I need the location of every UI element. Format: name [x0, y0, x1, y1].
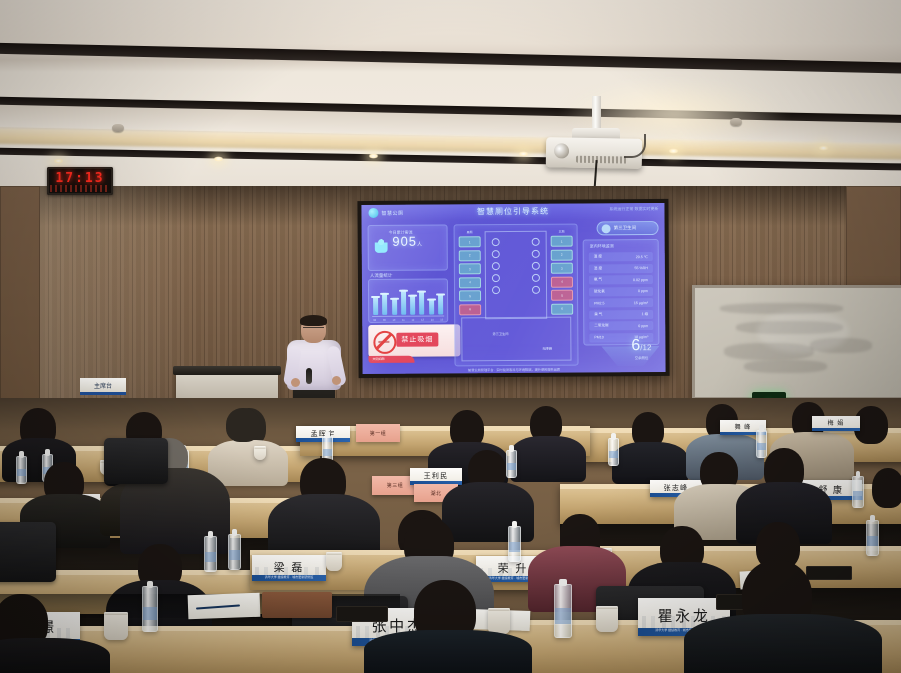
free-stall-counter: 6/12 空余厕位: [631, 338, 651, 360]
chart-bar: [438, 293, 443, 314]
environment-panel: 室内环境监测 温 度20.5 ℃湿 度55 %RH氨 气0.02 ppm硫化氢0…: [583, 239, 660, 346]
chart-tick: 14: [431, 319, 434, 322]
male-stall-column: 男厕 123456: [459, 230, 482, 317]
stall-indicator: 1: [459, 236, 481, 247]
chart-bar: [429, 298, 434, 315]
env-label: 湿 度: [594, 266, 602, 271]
env-value: 0 ppm: [638, 289, 648, 293]
chart-tick: 15: [440, 318, 443, 321]
notebook: [262, 592, 332, 618]
table-nameplate: 梅 娟: [812, 416, 860, 431]
chart-bar: [419, 291, 424, 315]
no-smoking-banner: 禁止吸烟 文明如厕: [368, 324, 460, 357]
female-stall-column: 女厕 123456: [551, 230, 574, 317]
chart-axis: [372, 315, 444, 317]
no-smoking-footer: 文明如厕: [368, 356, 414, 363]
counter-value: 6/12: [631, 338, 651, 354]
chair-back: [0, 522, 56, 582]
third-restroom-button[interactable]: 第三卫生间: [597, 221, 659, 235]
chart-bar: [401, 290, 406, 315]
nameplate-text: 王利民: [424, 473, 449, 480]
occupancy-number: 905: [392, 234, 417, 249]
chart-tick-labels: 0809101112131415: [373, 318, 443, 321]
env-reading-row: 湿 度55 %RH: [589, 264, 653, 273]
chart-bar: [392, 297, 397, 314]
env-reading-row: PM2.515 μg/m³: [589, 298, 653, 307]
env-label: 氨 气: [594, 277, 602, 282]
table-nameplate: 王利民: [410, 468, 462, 485]
dashboard-footer: 智慧公厕管理平台 · 实时监测客流与环境数据，提升便民服务品质: [363, 366, 666, 373]
env-label: PM10: [594, 335, 603, 339]
env-label: PM2.5: [594, 301, 604, 305]
stall-indicator: 3: [459, 263, 481, 274]
ceiling-spot-light: [368, 153, 379, 159]
chart-tick: 12: [411, 319, 414, 322]
env-value: 55 %RH: [634, 266, 647, 270]
dashboard-meta: 系统运行正常 数据实时更新: [609, 206, 658, 212]
map-rooms: 第三卫生间 无障碍: [461, 317, 571, 362]
ceiling-spot-light: [213, 156, 224, 162]
env-label: 臭 气: [594, 312, 602, 317]
env-title: 室内环境监测: [584, 240, 658, 253]
no-smoking-icon: [373, 331, 396, 354]
env-value: 1 级: [642, 312, 649, 317]
env-reading-row: 温 度20.5 ℃: [589, 252, 653, 261]
env-value: 0.02 ppm: [633, 278, 648, 282]
lectern-nameplate: 主席台: [80, 378, 126, 395]
env-label: 二氧化碳: [594, 323, 608, 328]
chart-bar: [373, 296, 378, 315]
occupancy-card: 今日累计客流 905人: [368, 224, 448, 271]
microphone-icon: [306, 368, 312, 384]
clock-secondary-display: [50, 185, 110, 192]
stall-indicator: 3: [551, 263, 573, 274]
chart-bar: [382, 293, 387, 315]
ceiling-spot-light: [668, 148, 679, 154]
occupancy-unit: 人: [417, 242, 423, 248]
ceiling: [0, 0, 901, 200]
stall-indicator: 6: [551, 303, 573, 314]
projected-dashboard: 智慧公厕 智慧厕位引导系统 系统运行正常 数据实时更新 今日累计客流 905人 …: [361, 203, 665, 374]
chair-back: [104, 438, 168, 484]
map-corridor: [485, 231, 548, 319]
third-restroom-label: 第三卫生间: [614, 225, 637, 231]
env-reading-row: 硫化氢0 ppm: [589, 287, 653, 296]
chart-tick: 13: [421, 319, 424, 322]
no-smoking-text: 禁止吸烟: [396, 333, 438, 347]
env-reading-row: 臭 气1 级: [589, 310, 653, 319]
clock-time: 17:13: [47, 171, 113, 186]
glasses-icon: [303, 327, 324, 333]
chart-tick: 11: [402, 319, 405, 322]
stall-indicator: 6: [459, 304, 481, 315]
projection-screen-frame: 智慧公厕 智慧厕位引导系统 系统运行正常 数据实时更新 今日累计客流 905人 …: [357, 199, 669, 378]
chart-tick: 10: [392, 319, 395, 322]
env-value: 15 μg/m³: [634, 301, 648, 305]
person-icon: [602, 224, 611, 233]
map-left-header: 男厕: [459, 230, 481, 234]
env-reading-row: 氨 气0.02 ppm: [589, 275, 653, 284]
stall-indicator: 5: [459, 290, 481, 301]
ceiling-spot-light: [53, 158, 64, 164]
ceiling-spot-light: [518, 151, 529, 157]
env-label: 温 度: [594, 254, 602, 259]
ceiling-beam: [0, 42, 901, 75]
env-reading-row: 二氧化碳0 ppm: [589, 321, 653, 330]
counter-total: /12: [640, 343, 651, 352]
group-table-tent: 第一组: [356, 424, 400, 442]
map-room-label: 无障碍: [542, 345, 552, 350]
map-room-label: 第三卫生间: [493, 331, 509, 336]
chart-tick: 08: [373, 319, 376, 322]
occupancy-value: 905人: [369, 233, 447, 249]
ceiling-spot-light: [818, 145, 829, 151]
desk-pad: [336, 606, 388, 622]
nameplate-text: 舞 峰: [735, 425, 752, 431]
restroom-floor-map: 男厕 123456 女厕 123456 第三卫生间 无障碍: [454, 224, 579, 367]
counter-label: 空余厕位: [631, 355, 651, 360]
env-label: 硫化氢: [594, 289, 605, 294]
chart-bar: [410, 295, 415, 315]
smoke-detector-icon: [112, 124, 124, 132]
nameplate-footer: 清华大学 继续教育 · 城市更新研修班: [252, 575, 326, 580]
projector-lens-icon: [554, 143, 569, 158]
map-right-header: 女厕: [551, 230, 573, 234]
stall-indicator: 4: [459, 277, 481, 288]
traffic-bar-chart: 0809101112131415: [368, 278, 448, 323]
digital-wall-clock: 17:13: [47, 167, 113, 195]
env-value: 0 ppm: [638, 324, 648, 328]
table-nameplate: 梁 磊 清华大学 继续教育 · 城市更新研修班: [252, 555, 326, 581]
chart-bars: [373, 284, 443, 314]
chart-tick: 09: [383, 319, 386, 322]
stall-indicator: 4: [551, 276, 573, 287]
stall-indicator: 5: [551, 290, 573, 301]
stall-indicator: 1: [551, 236, 573, 247]
lecture-hall-photo: 17:13 智慧公厕 智慧厕位引导系统 系统运行正常 数据实时更新 今日累计客流…: [0, 0, 901, 673]
whiteboard: [692, 285, 901, 400]
projector-vent: [576, 156, 628, 164]
nameplate-text: 梅 娟: [828, 421, 845, 427]
stall-indicator: 2: [551, 249, 573, 260]
audience-seating: 孟晖宇 第一组 舞 峰 梅 娟 古中继 舒 康 张志峰 第三组: [0, 398, 901, 673]
smoke-detector-icon: [730, 118, 742, 126]
projector-pole: [592, 96, 601, 132]
stall-indicator: 2: [459, 250, 481, 261]
env-value: 20.5 ℃: [636, 255, 648, 259]
